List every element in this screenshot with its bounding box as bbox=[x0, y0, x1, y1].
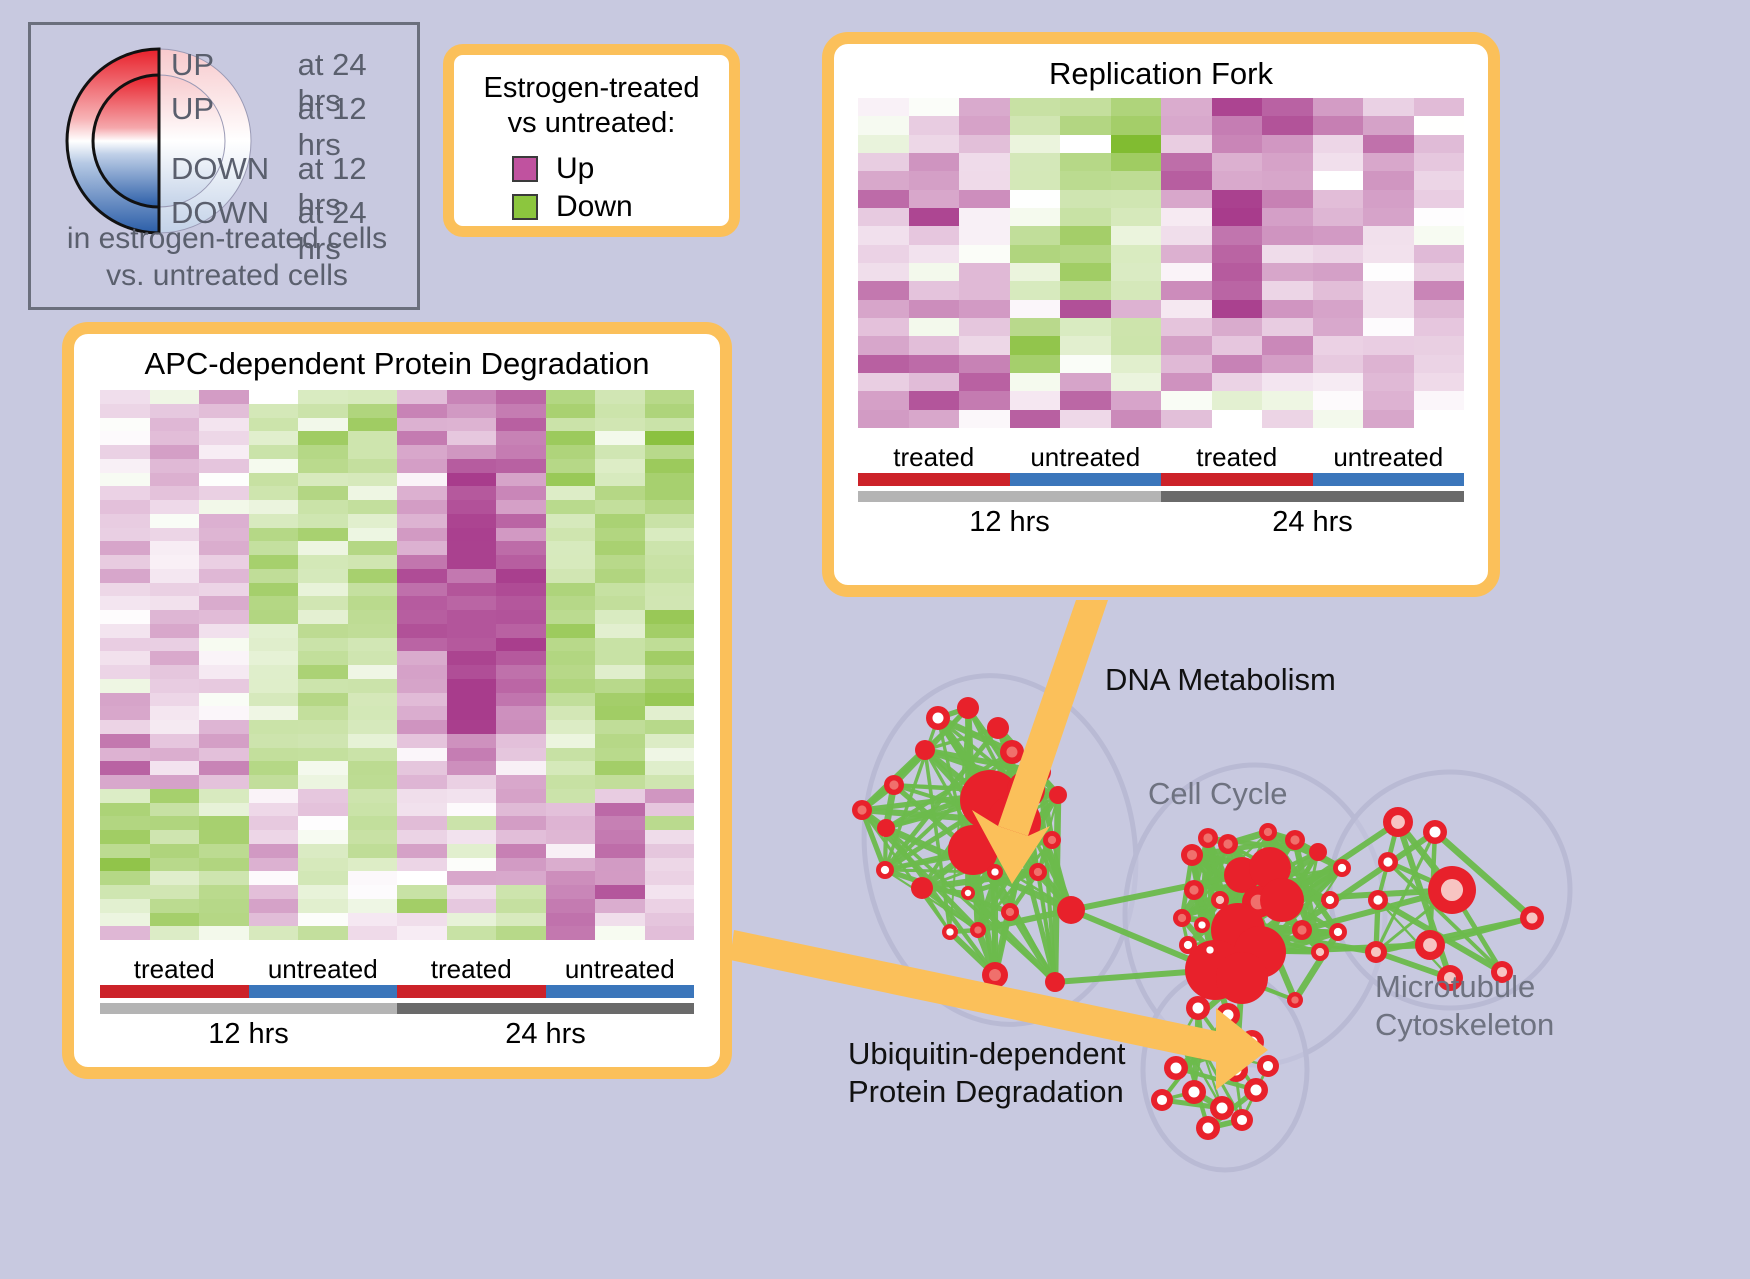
network-node-core bbox=[1316, 948, 1324, 956]
heatmap-cell bbox=[150, 693, 200, 707]
heatmap-cell bbox=[249, 390, 299, 404]
network-node-core bbox=[1222, 1009, 1233, 1020]
heatmap-cell bbox=[546, 500, 596, 514]
heatmap-cell bbox=[348, 803, 398, 817]
network-node-core bbox=[1216, 896, 1224, 904]
heatmap-cell bbox=[249, 679, 299, 693]
heatmap-cell bbox=[447, 651, 497, 665]
heatmap-cell bbox=[858, 373, 909, 391]
heatmap-cell bbox=[249, 583, 299, 597]
heatmap-cell bbox=[447, 679, 497, 693]
heatmap-cell bbox=[959, 391, 1010, 409]
heatmap-cell bbox=[447, 665, 497, 679]
heatmap-cell bbox=[298, 926, 348, 940]
network-node-core bbox=[1429, 826, 1440, 837]
heatmap-cell bbox=[199, 555, 249, 569]
heatmap-cell bbox=[1212, 226, 1263, 244]
heatmap-cell bbox=[397, 555, 447, 569]
heatmap-cell bbox=[496, 638, 546, 652]
heatmap-cell bbox=[1414, 226, 1465, 244]
heatmap-cell bbox=[1010, 171, 1061, 189]
heatmap-cell bbox=[1262, 153, 1313, 171]
heatmap-cell bbox=[397, 871, 447, 885]
network-node-core bbox=[1250, 1084, 1261, 1095]
network-node-core bbox=[1290, 835, 1299, 844]
heatmap-cell bbox=[348, 418, 398, 432]
heatmap-cell bbox=[595, 693, 645, 707]
network-node-core bbox=[1223, 839, 1232, 848]
heatmap-cell bbox=[348, 844, 398, 858]
heatmap-cell bbox=[1414, 410, 1465, 428]
group-label: treated bbox=[1161, 442, 1313, 473]
heatmap-cell bbox=[645, 706, 695, 720]
heatmap-cell bbox=[1363, 190, 1414, 208]
heatmap-cell bbox=[1060, 190, 1111, 208]
heatmap-cell bbox=[249, 844, 299, 858]
heatmap-cell bbox=[348, 514, 398, 528]
heatmap-cell bbox=[298, 665, 348, 679]
heatmap-cell bbox=[397, 734, 447, 748]
network-node-core bbox=[1373, 895, 1382, 904]
heatmap-cell bbox=[100, 583, 150, 597]
heatmap-cell bbox=[1161, 263, 1212, 281]
heatmap-cell bbox=[249, 500, 299, 514]
heatmap-cell bbox=[150, 858, 200, 872]
heatmap-cell bbox=[1262, 116, 1313, 134]
heatmap-cell bbox=[348, 541, 398, 555]
heatmap-cell bbox=[858, 391, 909, 409]
heatmap-cell bbox=[546, 459, 596, 473]
heatmap-cell bbox=[150, 761, 200, 775]
heatmap-cell bbox=[1010, 355, 1061, 373]
cluster-label-microtubule-cytoskeleton: Microtubule Cytoskeleton bbox=[1375, 968, 1554, 1044]
heatmap-cell bbox=[1010, 190, 1061, 208]
heatmap-cell bbox=[496, 871, 546, 885]
heatmap-cell bbox=[645, 624, 695, 638]
heatmap-cell bbox=[546, 624, 596, 638]
heatmap-cell bbox=[595, 514, 645, 528]
heatmap-cell bbox=[298, 404, 348, 418]
heatmap-cell bbox=[199, 431, 249, 445]
heatmap-cell bbox=[496, 748, 546, 762]
heatmap-cell bbox=[150, 775, 200, 789]
heatmap-cell bbox=[348, 390, 398, 404]
condition-bar-segment bbox=[1161, 473, 1313, 486]
heatmap-cell bbox=[1111, 281, 1162, 299]
heatmap-cell bbox=[150, 486, 200, 500]
heatmap-cell bbox=[546, 789, 596, 803]
heatmap-cell bbox=[1161, 300, 1212, 318]
heatmap-cell bbox=[298, 541, 348, 555]
heatmap-cell bbox=[1212, 98, 1263, 116]
heatmap-cell bbox=[496, 431, 546, 445]
legend-row-down-12: DOWN at 12 hrs bbox=[171, 151, 417, 195]
condition-bar-segment bbox=[1313, 473, 1465, 486]
heatmap-cell bbox=[546, 569, 596, 583]
heatmap-cell bbox=[1161, 135, 1212, 153]
heatmap-cell bbox=[546, 638, 596, 652]
heatmap-cell bbox=[1010, 116, 1061, 134]
heatmap-cell bbox=[496, 789, 546, 803]
heatmap-cell bbox=[546, 761, 596, 775]
heatmap-cell bbox=[1262, 391, 1313, 409]
heatmap-cell bbox=[447, 583, 497, 597]
heatmap-cell bbox=[298, 899, 348, 913]
heatmap-cell bbox=[645, 418, 695, 432]
heatmap-cell bbox=[1212, 263, 1263, 281]
heatmap-cell bbox=[546, 390, 596, 404]
heatmap-cell bbox=[298, 514, 348, 528]
network-node-core bbox=[1178, 914, 1186, 922]
heatmap-cell bbox=[1060, 135, 1111, 153]
heatmap-cell bbox=[298, 734, 348, 748]
heatmap-cell bbox=[546, 775, 596, 789]
heatmap-cell bbox=[1414, 336, 1465, 354]
heatmap-cell bbox=[496, 679, 546, 693]
heatmap-cell bbox=[496, 926, 546, 940]
heatmap-cell bbox=[249, 775, 299, 789]
heatmap-cell bbox=[100, 789, 150, 803]
heatmap-cell bbox=[199, 761, 249, 775]
heatmap-cell bbox=[645, 720, 695, 734]
heatmap-cell bbox=[909, 300, 960, 318]
heatmap-cell bbox=[348, 761, 398, 775]
heatmap-cell bbox=[348, 459, 398, 473]
heatmap-cell bbox=[249, 459, 299, 473]
heatmap-cell bbox=[496, 528, 546, 542]
condition-bar-segment bbox=[100, 985, 249, 998]
heatmap-cell bbox=[645, 528, 695, 542]
heatmap-cell bbox=[100, 844, 150, 858]
heatmap-cell bbox=[447, 693, 497, 707]
heatmap-cell bbox=[1212, 208, 1263, 226]
heatmap-cell bbox=[909, 336, 960, 354]
heatmap-cell bbox=[447, 624, 497, 638]
condition-bar-segment bbox=[546, 985, 695, 998]
heatmap-cell bbox=[397, 431, 447, 445]
heatmap-cell bbox=[150, 748, 200, 762]
heatmap-cell bbox=[397, 816, 447, 830]
heatmap-cell bbox=[1262, 190, 1313, 208]
heatmap-cell bbox=[959, 373, 1010, 391]
heatmap-cell bbox=[496, 734, 546, 748]
heatmap-cell bbox=[1060, 153, 1111, 171]
heatmap-cell bbox=[1313, 226, 1364, 244]
heatmap-cell bbox=[1111, 300, 1162, 318]
heatmap-cell bbox=[1010, 373, 1061, 391]
network-node-core bbox=[1334, 928, 1342, 936]
heatmap-cell bbox=[150, 871, 200, 885]
heatmap-cell bbox=[1060, 98, 1111, 116]
heatmap-cell bbox=[199, 514, 249, 528]
network-node-core bbox=[1230, 1064, 1241, 1075]
heatmap-cell bbox=[1161, 355, 1212, 373]
heatmap-cell bbox=[546, 583, 596, 597]
heatmap-cell bbox=[959, 116, 1010, 134]
heatmap-cell bbox=[595, 596, 645, 610]
heatmap-cell bbox=[645, 871, 695, 885]
heatmap-cell bbox=[150, 651, 200, 665]
heatmap-cell bbox=[959, 281, 1010, 299]
heatmap-cell bbox=[1111, 263, 1162, 281]
heatmap-cell bbox=[150, 596, 200, 610]
heatmap-cell bbox=[645, 473, 695, 487]
heatmap-cell bbox=[150, 555, 200, 569]
heatmap-cell bbox=[1414, 281, 1465, 299]
heatmap-cell bbox=[1262, 226, 1313, 244]
heatmap-cell bbox=[150, 624, 200, 638]
heatmap-cell bbox=[595, 706, 645, 720]
heatmap-cell bbox=[298, 830, 348, 844]
heatmap-cell bbox=[199, 583, 249, 597]
heatmap-cell bbox=[298, 748, 348, 762]
network-node-core bbox=[1246, 1036, 1257, 1047]
heatmap-cell bbox=[645, 445, 695, 459]
legend-direction: UP bbox=[171, 91, 298, 127]
network-node-core bbox=[989, 969, 1001, 981]
heatmap-cell bbox=[1313, 116, 1364, 134]
heatmap-cell bbox=[595, 624, 645, 638]
heatmap-cell bbox=[150, 445, 200, 459]
heatmap-cell bbox=[1161, 318, 1212, 336]
heatmap-cell bbox=[298, 473, 348, 487]
heatmap-cell bbox=[199, 486, 249, 500]
heatmap-cell bbox=[100, 500, 150, 514]
legend-row-up-12: UP at 12 hrs bbox=[171, 91, 417, 135]
heatmap-cell bbox=[100, 679, 150, 693]
heatmap-cell bbox=[298, 720, 348, 734]
heatmap-cell bbox=[397, 445, 447, 459]
heatmap-cell bbox=[1262, 245, 1313, 263]
heatmap-cell bbox=[1313, 373, 1364, 391]
heatmap-cell bbox=[1212, 171, 1263, 189]
network-node-core bbox=[1206, 946, 1213, 953]
heatmap-cell bbox=[447, 803, 497, 817]
heatmap-cell bbox=[496, 500, 546, 514]
heatmap-cell bbox=[397, 885, 447, 899]
heatmap-cell bbox=[150, 500, 200, 514]
heatmap-cell bbox=[1060, 355, 1111, 373]
heatmap-cell bbox=[1212, 318, 1263, 336]
heatmap-cell bbox=[1060, 245, 1111, 263]
estrogen-legend-title: Estrogen-treated vs untreated: bbox=[454, 71, 729, 142]
heatmap-cell bbox=[595, 789, 645, 803]
heatmap-cell bbox=[909, 135, 960, 153]
heatmap-cell bbox=[959, 410, 1010, 428]
heatmap-cell bbox=[645, 899, 695, 913]
network-node-core bbox=[1291, 996, 1298, 1003]
heatmap-cell bbox=[150, 459, 200, 473]
heatmap-cell bbox=[595, 500, 645, 514]
heatmap-cell bbox=[397, 844, 447, 858]
heatmap-cell bbox=[1262, 281, 1313, 299]
heatmap-cell bbox=[249, 926, 299, 940]
heatmap-cell bbox=[959, 300, 1010, 318]
network-node-core bbox=[1184, 941, 1192, 949]
heatmap-cell bbox=[348, 858, 398, 872]
heatmap-cell bbox=[397, 486, 447, 500]
heatmap-cell bbox=[348, 926, 398, 940]
heatmap-cell bbox=[249, 885, 299, 899]
heatmap-cell bbox=[1313, 281, 1364, 299]
heatmap-cell bbox=[249, 761, 299, 775]
heatmap-cell bbox=[298, 596, 348, 610]
heatmap-cell bbox=[447, 596, 497, 610]
heatmap-cell bbox=[397, 459, 447, 473]
heatmap-cell bbox=[298, 431, 348, 445]
heatmap-cell bbox=[645, 679, 695, 693]
heatmap-cell bbox=[496, 844, 546, 858]
time-label: 12 hrs bbox=[100, 1018, 397, 1051]
heatmap-cell bbox=[298, 803, 348, 817]
caption-line-2: vs. untreated cells bbox=[31, 258, 423, 295]
heatmap-cell bbox=[546, 844, 596, 858]
heatmap-cell bbox=[150, 390, 200, 404]
heatmap-cell bbox=[595, 528, 645, 542]
network-node bbox=[957, 697, 979, 719]
heatmap-cell bbox=[1212, 245, 1263, 263]
heatmap-cell bbox=[199, 816, 249, 830]
heatmap-cell bbox=[298, 871, 348, 885]
heatmap-cell bbox=[150, 720, 200, 734]
heatmap-cell bbox=[249, 514, 299, 528]
heatmap-cell bbox=[447, 871, 497, 885]
heatmap-cell bbox=[496, 830, 546, 844]
network-node-core bbox=[1371, 947, 1381, 957]
network-node bbox=[1216, 952, 1268, 1004]
heatmap-cell bbox=[249, 528, 299, 542]
heatmap-cell bbox=[1363, 208, 1414, 226]
network-node-core bbox=[1338, 864, 1346, 872]
cluster-label-cell-cycle: Cell Cycle bbox=[1148, 776, 1288, 812]
heatmap-cell bbox=[397, 706, 447, 720]
heatmap-cell bbox=[397, 638, 447, 652]
heatmap-cell bbox=[397, 500, 447, 514]
heatmap-cell bbox=[397, 651, 447, 665]
heatmap-cell bbox=[1363, 336, 1414, 354]
heatmap-cell bbox=[496, 706, 546, 720]
heatmap-cell bbox=[1262, 135, 1313, 153]
heatmap-cell bbox=[249, 610, 299, 624]
heatmap-cell bbox=[100, 913, 150, 927]
heatmap-cell bbox=[959, 245, 1010, 263]
network-node-core bbox=[1216, 1102, 1227, 1113]
heatmap-cell bbox=[199, 651, 249, 665]
heatmap-cell bbox=[595, 679, 645, 693]
heatmap-cell bbox=[909, 98, 960, 116]
heatmap-cell bbox=[595, 803, 645, 817]
heatmap-cell bbox=[1060, 410, 1111, 428]
heatmap-cell bbox=[1111, 410, 1162, 428]
heatmap-cell bbox=[1010, 245, 1061, 263]
heatmap-cell bbox=[397, 596, 447, 610]
heatmap-cell bbox=[909, 153, 960, 171]
heatmap-cell bbox=[1363, 153, 1414, 171]
heatmap-cell bbox=[1111, 171, 1162, 189]
heatmap-cell bbox=[199, 926, 249, 940]
heatmap-cell bbox=[1414, 245, 1465, 263]
heatmap-cell bbox=[1010, 263, 1061, 281]
heatmap-cell bbox=[150, 816, 200, 830]
heatmap-cell bbox=[496, 473, 546, 487]
heatmap-cell bbox=[199, 390, 249, 404]
heatmap-cell bbox=[645, 885, 695, 899]
heatmap-cell bbox=[546, 926, 596, 940]
heatmap-cell bbox=[1111, 135, 1162, 153]
heatmap-cell bbox=[100, 624, 150, 638]
heatmap-cell bbox=[447, 761, 497, 775]
heatmap-cell bbox=[348, 583, 398, 597]
heatmap-cell bbox=[447, 844, 497, 858]
heatmap-cell bbox=[645, 486, 695, 500]
heatmap-cell bbox=[496, 651, 546, 665]
heatmap-cell bbox=[1313, 153, 1364, 171]
heatmap-cell bbox=[249, 734, 299, 748]
heatmap-cell bbox=[447, 638, 497, 652]
heatmap-cell bbox=[397, 926, 447, 940]
heatmap-cell bbox=[397, 390, 447, 404]
heatmap-cell bbox=[100, 541, 150, 555]
heatmap-cell bbox=[1212, 373, 1263, 391]
heatmap-cell bbox=[595, 816, 645, 830]
network-node-core bbox=[1423, 938, 1437, 952]
heatmap-cell bbox=[645, 541, 695, 555]
heatmap-cell bbox=[959, 226, 1010, 244]
heatmap-cell bbox=[1161, 153, 1212, 171]
network-node-core bbox=[1170, 1062, 1181, 1073]
panel-replication-fork: Replication Fork treated untreated treat… bbox=[822, 32, 1500, 597]
heatmap-cell bbox=[1313, 355, 1364, 373]
heatmap-cell bbox=[348, 665, 398, 679]
heatmap-cell bbox=[249, 541, 299, 555]
network-node-core bbox=[1263, 1061, 1273, 1071]
heatmap-cell bbox=[496, 486, 546, 500]
heatmap-cell bbox=[595, 459, 645, 473]
heatmap-cell bbox=[249, 858, 299, 872]
heatmap-cell bbox=[496, 445, 546, 459]
heatmap-cell bbox=[595, 445, 645, 459]
heatmap-cell bbox=[150, 789, 200, 803]
heatmap-cell bbox=[1414, 263, 1465, 281]
heatmap-cell bbox=[348, 638, 398, 652]
heatmap-cell bbox=[199, 541, 249, 555]
heatmap-cell bbox=[1313, 190, 1364, 208]
network-node-core bbox=[1192, 1002, 1203, 1013]
network-node-core bbox=[881, 866, 889, 874]
heatmap-cell bbox=[1212, 135, 1263, 153]
heatmap-cell bbox=[298, 486, 348, 500]
network-node bbox=[1029, 761, 1051, 783]
heatmap-cell bbox=[546, 404, 596, 418]
heatmap-cell bbox=[909, 263, 960, 281]
network-node-core bbox=[1297, 925, 1306, 934]
heatmap-cell bbox=[959, 208, 1010, 226]
heatmap-cell bbox=[496, 596, 546, 610]
heatmap-cell bbox=[298, 624, 348, 638]
heatmap-cell bbox=[199, 404, 249, 418]
network-node-core bbox=[1203, 833, 1212, 842]
heatmap-cell bbox=[645, 748, 695, 762]
heatmap-cell bbox=[546, 748, 596, 762]
heatmap-cell bbox=[397, 748, 447, 762]
heatmap-cell bbox=[1363, 318, 1414, 336]
heatmap-cell bbox=[150, 844, 200, 858]
heatmap-cell bbox=[100, 720, 150, 734]
network-node-core bbox=[1157, 1095, 1167, 1105]
heatmap-cell bbox=[1212, 391, 1263, 409]
heatmap-cell bbox=[100, 775, 150, 789]
heatmap-cell bbox=[150, 404, 200, 418]
